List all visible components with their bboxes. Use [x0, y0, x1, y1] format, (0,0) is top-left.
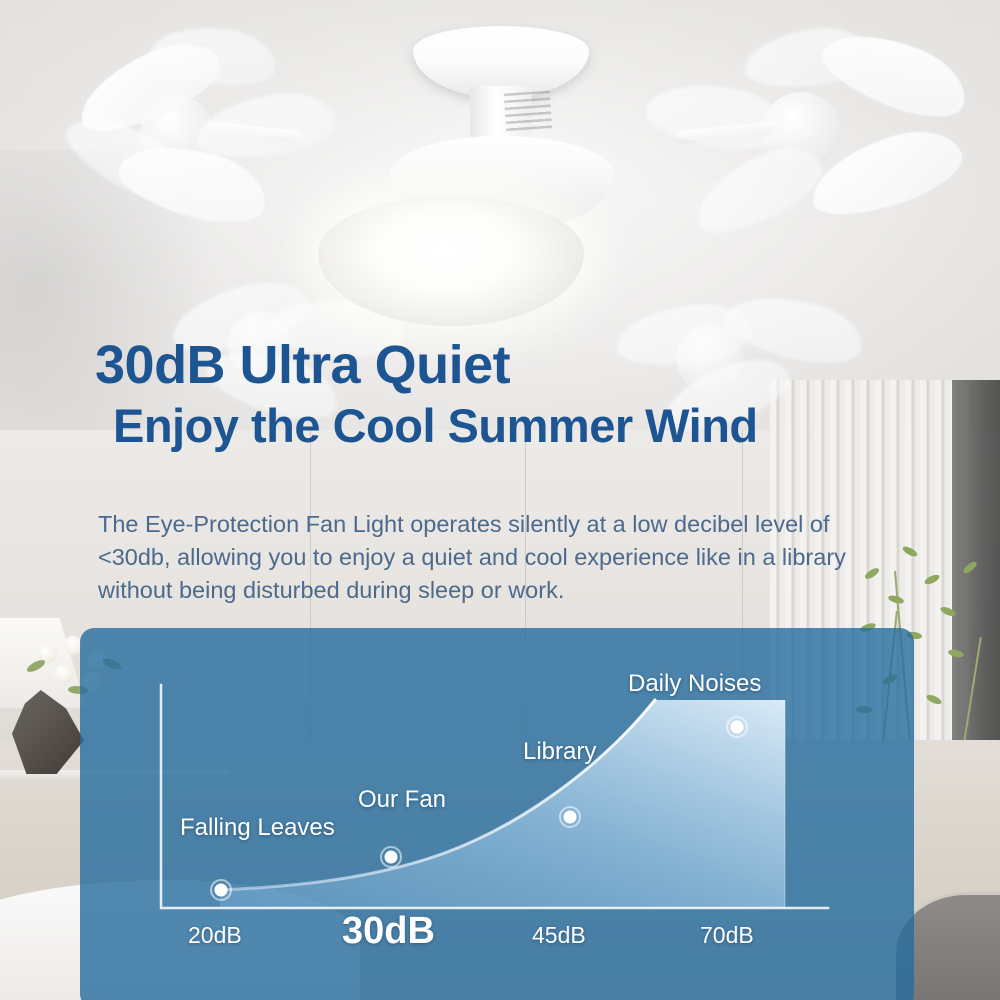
- headline-block: 30dB Ultra Quiet Enjoy the Cool Summer W…: [95, 336, 915, 453]
- headline-secondary: Enjoy the Cool Summer Wind: [113, 400, 915, 453]
- fan-blade: [642, 74, 790, 157]
- product-marketing-image: 30dB Ultra Quiet Enjoy the Cool Summer W…: [0, 0, 1000, 1000]
- chart-area-fill: [220, 700, 785, 908]
- chart-tick-70db: 70dB: [700, 922, 754, 949]
- chart-label-daily-noises: Daily Noises: [628, 670, 761, 698]
- fan-blade: [193, 87, 340, 166]
- noise-comparison-chart: Falling Leaves Our Fan Library Daily Noi…: [80, 628, 914, 1000]
- chart-tick-45db: 45dB: [532, 922, 586, 949]
- chart-label-our-fan: Our Fan: [358, 786, 446, 814]
- chart-tick-30db: 30dB: [342, 910, 435, 953]
- chart-tick-20db: 20dB: [188, 922, 242, 949]
- body-description: The Eye-Protection Fan Light operates si…: [98, 508, 866, 607]
- headline-primary: 30dB Ultra Quiet: [95, 336, 915, 394]
- chart-label-library: Library: [523, 738, 596, 766]
- product-label-sticker: [504, 90, 553, 131]
- chart-point-marker: [381, 847, 401, 867]
- chart-label-falling-leaves: Falling Leaves: [180, 814, 335, 842]
